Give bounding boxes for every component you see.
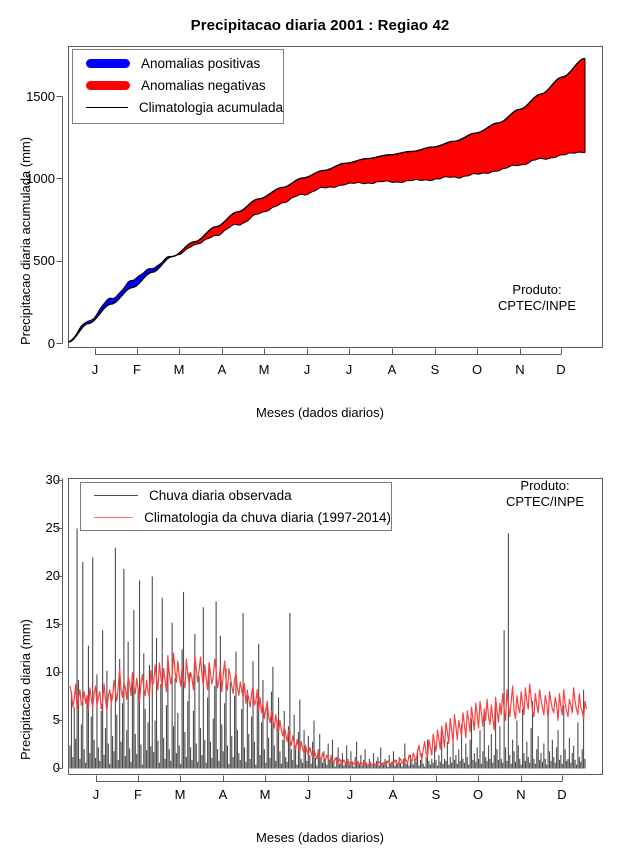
bottom-chart-data-layer [70, 529, 586, 769]
top-y-axis [57, 97, 63, 344]
red-line-icon [94, 517, 133, 518]
legend-label-positive: Anomalias positivas [141, 56, 260, 71]
top-chart-legend: Anomalias positivas Anomalias negativas … [72, 49, 284, 124]
legend-label-observed: Chuva diaria observada [149, 488, 292, 503]
black-line-icon [86, 107, 128, 108]
bottom-y-axis [57, 479, 63, 769]
legend-item-negative-anomalies: Anomalias negativas [73, 74, 283, 96]
legend-item-observed-rain: Chuva diaria observada [81, 484, 391, 506]
gray-line-icon [94, 495, 138, 496]
daily-precipitation-figure: Precipitacao diaria (mm) Meses (dados di… [0, 430, 640, 850]
legend-label-negative: Anomalias negativas [141, 78, 266, 93]
legend-item-positive-anomalies: Anomalias positivas [73, 52, 283, 74]
red-bar-icon [86, 81, 130, 90]
top-x-axis [95, 349, 562, 355]
bottom-x-axis [96, 776, 563, 782]
bottom-chart-legend: Chuva diaria observada Climatologia da c… [80, 482, 392, 531]
legend-label-climatology: Climatologia acumulada [139, 100, 283, 115]
cumulative-precipitation-figure: Precipitacao diaria 2001 : Regiao 42 Pre… [0, 0, 640, 430]
legend-item-climatology: Climatologia acumulada [73, 96, 283, 118]
legend-item-climatology-daily: Climatologia da chuva diaria (1997-2014) [81, 506, 391, 528]
legend-label-climatology-daily: Climatologia da chuva diaria (1997-2014) [144, 510, 391, 525]
blue-bar-icon [86, 59, 130, 68]
